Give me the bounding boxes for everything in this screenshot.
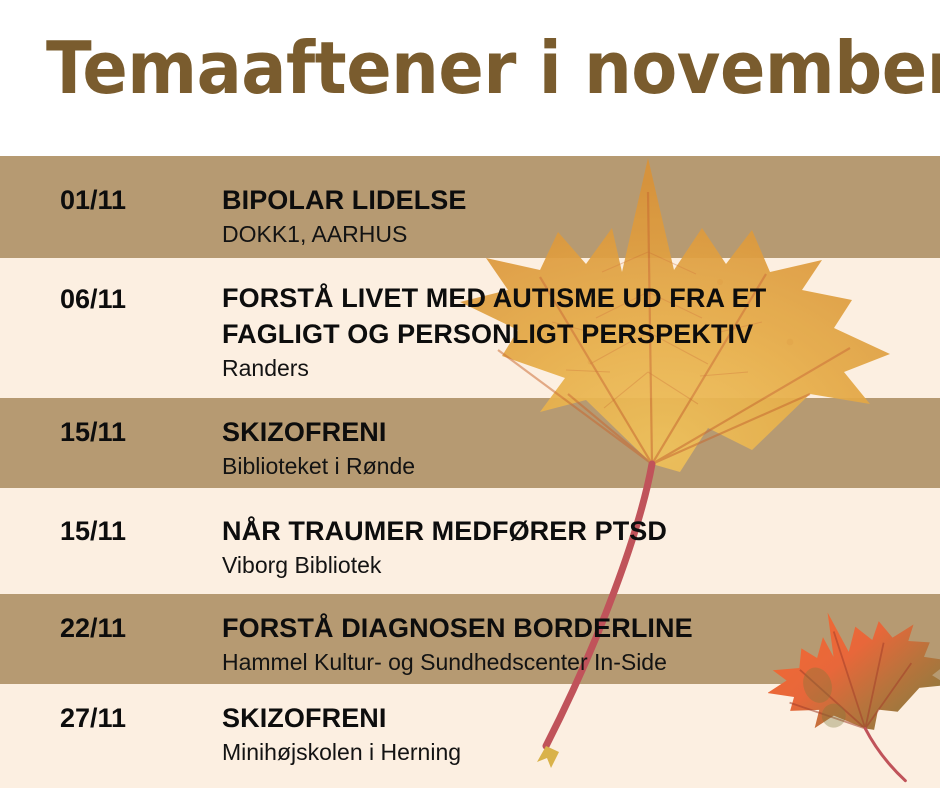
event-body: SKIZOFRENI Minihøjskolen i Herning [222,700,922,767]
event-venue: Hammel Kultur- og Sundhedscenter In-Side [222,647,922,677]
event-date: 15/11 [60,417,210,448]
poster-header: Temaaftener i november [0,0,940,156]
event-date: 15/11 [60,516,210,547]
event-row-6[interactable]: 27/11 SKIZOFRENI Minihøjskolen i Herning [0,684,940,788]
page-title: Temaaftener i november [46,28,846,108]
event-row-1[interactable]: 01/11 BIPOLAR LIDELSE DOKK1, AARHUS [0,156,940,258]
event-body: BIPOLAR LIDELSE DOKK1, AARHUS [222,182,922,249]
event-venue: DOKK1, AARHUS [222,219,922,249]
poster-canvas: Temaaftener i november 01/11 BIPOLAR LID… [0,0,940,788]
event-title: NÅR TRAUMER MEDFØRER PTSD [222,513,922,549]
event-venue: Minihøjskolen i Herning [222,737,922,767]
event-date: 06/11 [60,284,210,315]
event-body: NÅR TRAUMER MEDFØRER PTSD Viborg Bibliot… [222,513,922,580]
event-venue: Biblioteket i Rønde [222,451,922,481]
event-title: SKIZOFRENI [222,700,922,736]
event-venue: Viborg Bibliotek [222,550,922,580]
event-row-2[interactable]: 06/11 FORSTÅ LIVET MED AUTISME UD FRA ET… [0,258,940,398]
event-row-4[interactable]: 15/11 NÅR TRAUMER MEDFØRER PTSD Viborg B… [0,488,940,594]
event-row-3[interactable]: 15/11 SKIZOFRENI Biblioteket i Rønde [0,398,940,488]
event-title: FORSTÅ LIVET MED AUTISME UD FRA ET FAGLI… [222,280,922,352]
event-title: BIPOLAR LIDELSE [222,182,922,218]
event-venue: Randers [222,353,922,383]
event-date: 27/11 [60,703,210,734]
event-title: SKIZOFRENI [222,414,922,450]
event-title: FORSTÅ DIAGNOSEN BORDERLINE [222,610,922,646]
event-body: SKIZOFRENI Biblioteket i Rønde [222,414,922,481]
event-row-5[interactable]: 22/11 FORSTÅ DIAGNOSEN BORDERLINE Hammel… [0,594,940,684]
event-body: FORSTÅ DIAGNOSEN BORDERLINE Hammel Kultu… [222,610,922,677]
event-date: 22/11 [60,613,210,644]
event-date: 01/11 [60,185,210,216]
event-body: FORSTÅ LIVET MED AUTISME UD FRA ET FAGLI… [222,280,922,383]
